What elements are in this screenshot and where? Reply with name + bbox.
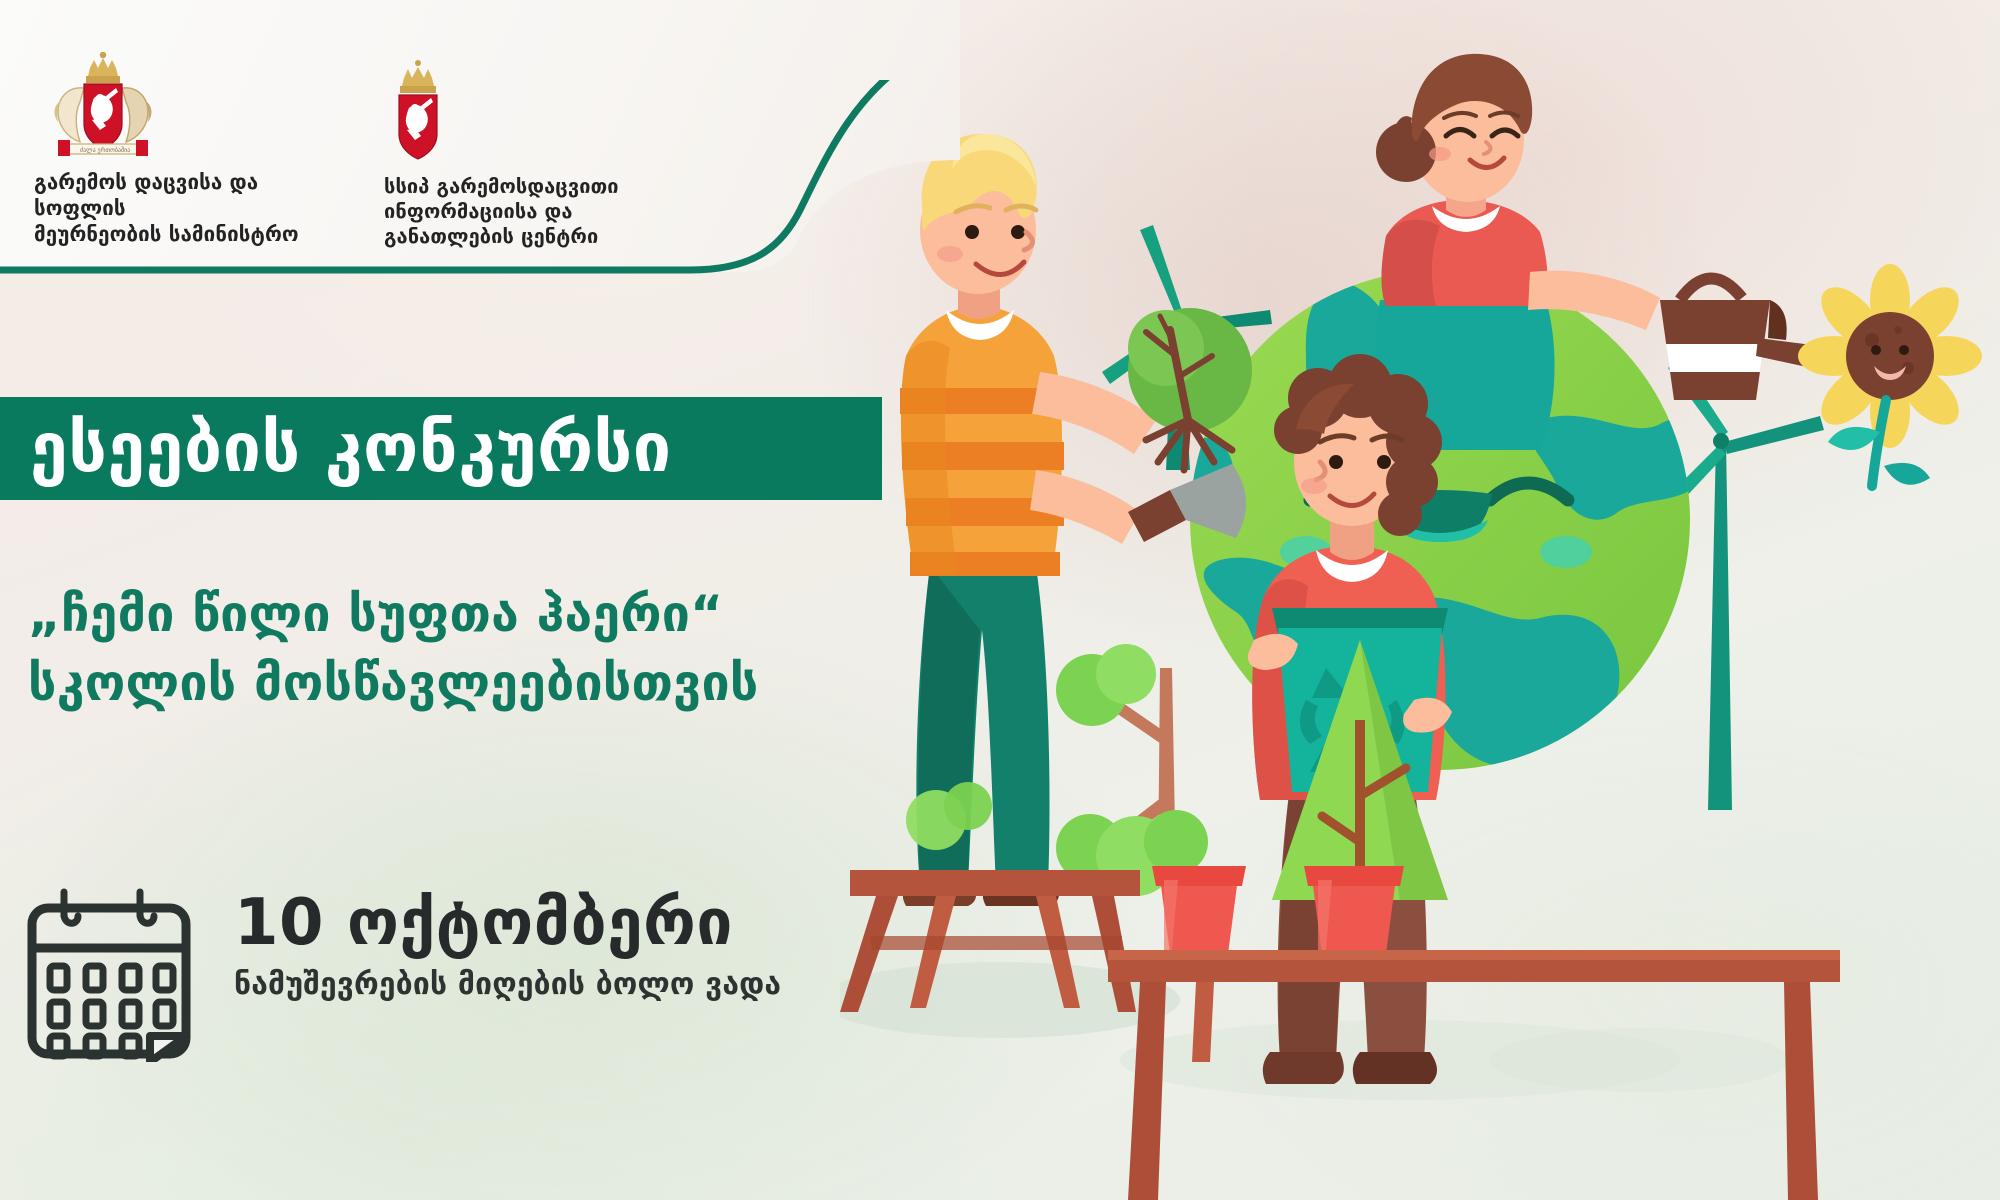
- eco-kids-illustration: [840, 0, 2000, 1200]
- ground-shadow-boy-right: [1490, 1028, 1790, 1092]
- logo-row: ძალა ერთობაშია გარემოს დაცვისა და სოფლის…: [0, 52, 720, 252]
- wind-turbine-right-icon: [1660, 358, 1824, 810]
- calendar-icon: [22, 886, 198, 1062]
- sunflower-character: [1798, 264, 1982, 486]
- poster-canvas: ძალა ერთობაშია გარემოს დაცვისა და სოფლის…: [0, 0, 2000, 1200]
- deadline-caption: ნამუშევრების მიღების ბოლო ვადა: [234, 967, 781, 1002]
- subtitle-text: „ჩემი წილი სუფთა ჰაერი“ სკოლის მოსწავლეე…: [28, 580, 988, 718]
- logo-education-centre-caption: სსიპ გარემოსდაცვითი ინფორმაციისა და განა…: [384, 174, 674, 248]
- page-title: ესეების კონკურსი: [0, 415, 672, 483]
- logo-education-centre: სსიპ გარემოსდაცვითი ინფორმაციისა და განა…: [384, 58, 674, 248]
- svg-text:ძალა ერთობაშია: ძალა ერთობაშია: [80, 147, 130, 154]
- deadline-date: 10 ოქტომბერი: [234, 890, 781, 957]
- logo-ministry: ძალა ერთობაშია გარემოს დაცვისა და სოფლის…: [34, 52, 334, 247]
- trowel-icon: [1128, 464, 1246, 542]
- georgia-greater-coat-of-arms-icon: ძალა ერთობაშია: [44, 52, 162, 162]
- georgia-lesser-coat-of-arms-icon: [388, 58, 450, 166]
- deadline-texts: 10 ოქტომბერი ნამუშევრების მიღების ბოლო ვ…: [234, 880, 781, 1002]
- potted-sapling-left: [1152, 866, 1246, 954]
- logo-ministry-caption: გარემოს დაცვისა და სოფლის მეურნეობის სამ…: [34, 170, 334, 247]
- deadline-block: 10 ოქტომბერი ნამუშევრების მიღების ბოლო ვ…: [22, 880, 781, 1062]
- title-banner: ესეების კონკურსი: [0, 397, 882, 500]
